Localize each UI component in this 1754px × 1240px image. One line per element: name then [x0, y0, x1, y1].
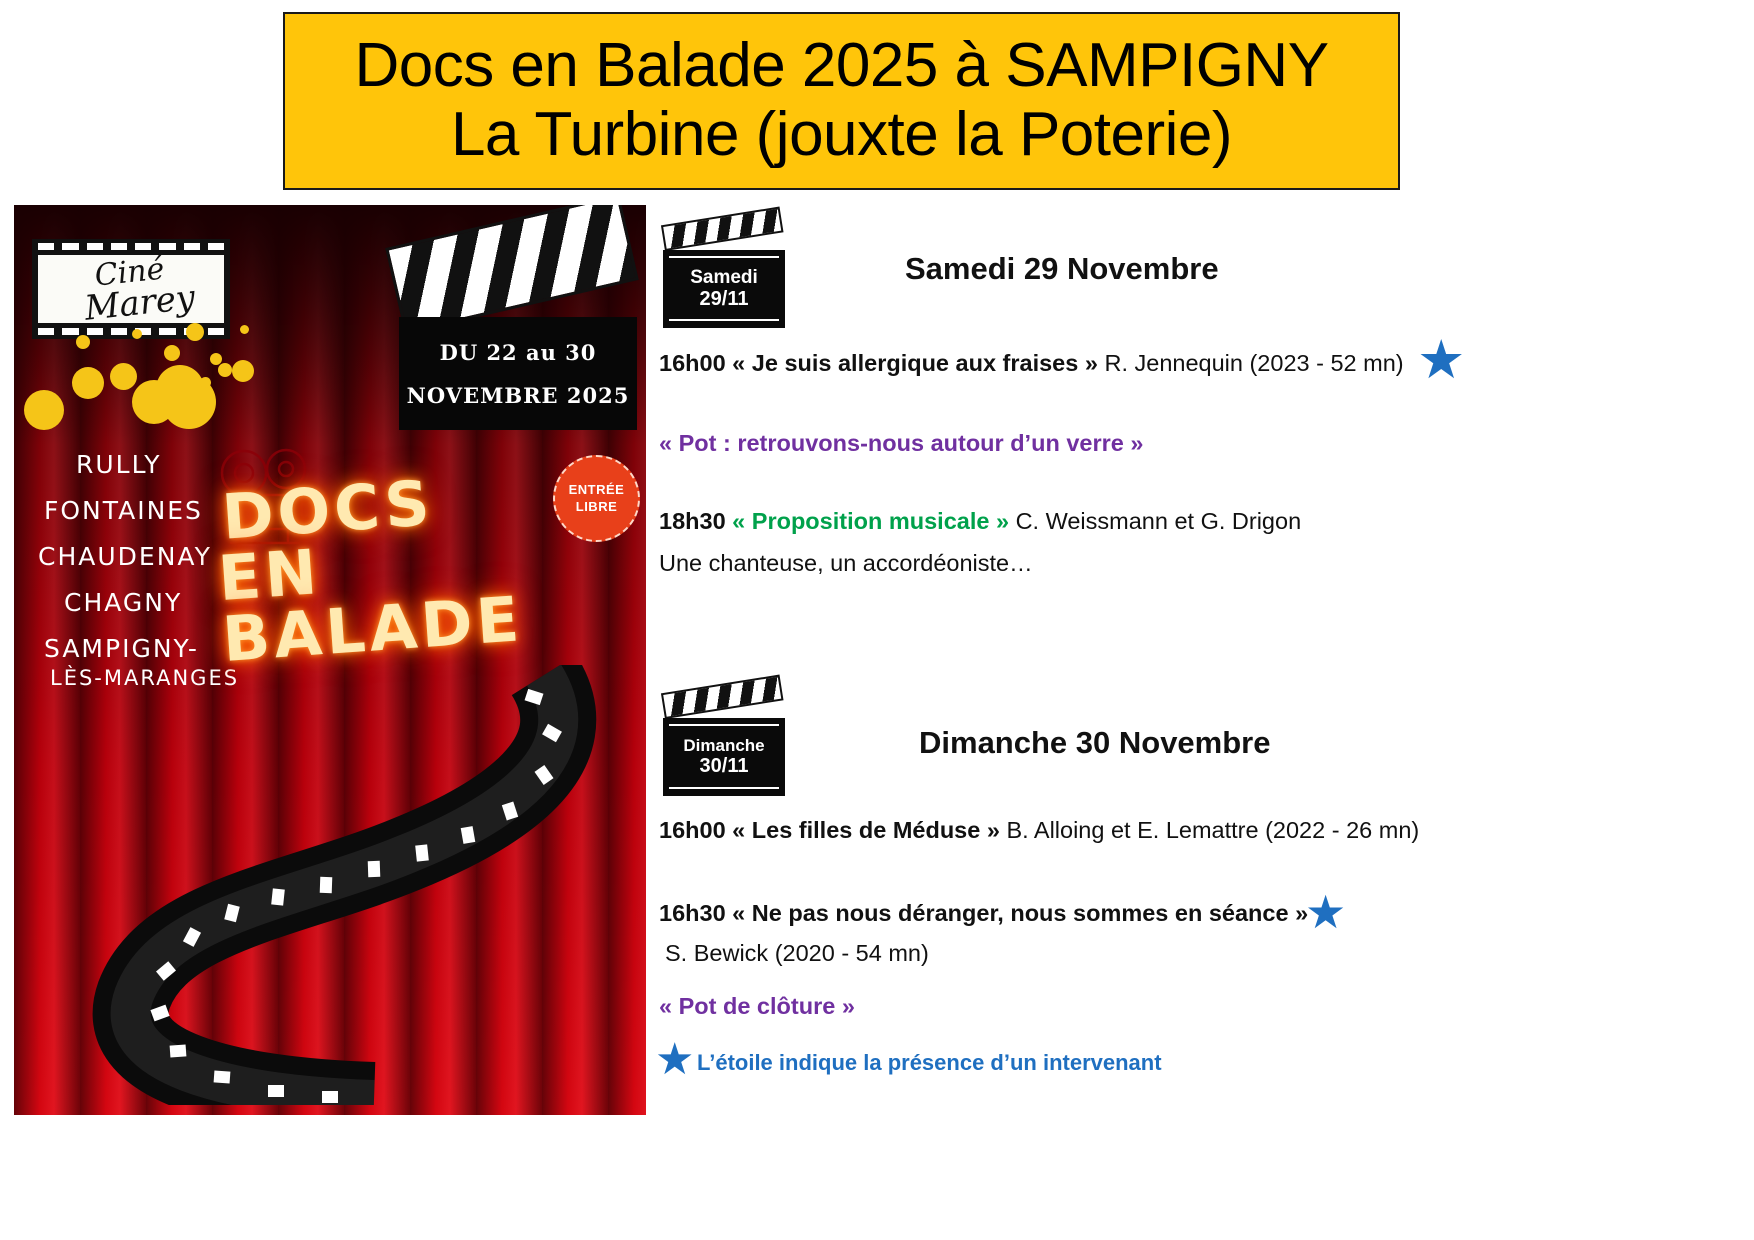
- event-title: « Ne pas nous déranger, nous sommes en s…: [732, 900, 1308, 926]
- poster-date-line-2: NOVEMBRE 2025: [407, 383, 630, 408]
- event-line-sun-2: 16h30 « Ne pas nous déranger, nous somme…: [659, 900, 1308, 927]
- festival-poster: Ciné Marey RULLY FONTAINES CHAUDENAY CHA…: [14, 205, 646, 1115]
- event-note-sat-3: Une chanteuse, un accordéoniste…: [659, 550, 1033, 577]
- poster-date-box: DU 22 au 30 NOVEMBRE 2025: [399, 317, 637, 430]
- bokeh-dot: [186, 323, 204, 341]
- page-title-line-2: La Turbine (jouxte la Poterie): [451, 102, 1232, 169]
- speaker-star-icon: ★: [1417, 333, 1465, 387]
- event-line-sat-1: 16h00 « Je suis allergique aux fraises »…: [659, 350, 1404, 377]
- bokeh-dot: [24, 390, 64, 430]
- town-item: SAMPIGNY-: [44, 634, 239, 663]
- bokeh-dot: [232, 360, 254, 382]
- event-time: 16h30: [659, 900, 726, 926]
- poster-neon-title: DOCS EN BALADE: [220, 459, 646, 670]
- bokeh-dot: [200, 377, 211, 388]
- clapper-date-label: 30/11: [700, 755, 749, 777]
- event-credit: B. Alloing et E. Lemattre (2022 - 26 mn): [1006, 817, 1419, 843]
- day-heading-saturday: Samedi 29 Novembre: [905, 251, 1219, 287]
- event-credit: C. Weissmann et G. Drigon: [1016, 508, 1302, 534]
- town-item: CHAUDENAY: [38, 542, 239, 571]
- clapper-date-label: 29/11: [700, 288, 749, 310]
- poster-date-line-1: DU 22 au 30: [440, 340, 597, 365]
- clapper-board: Samedi 29/11: [663, 250, 785, 328]
- event-time: 16h00: [659, 350, 726, 376]
- page-title-line-1: Docs en Balade 2025 à SAMPIGNY: [354, 33, 1328, 100]
- event-time: 16h00: [659, 817, 726, 843]
- event-time: 18h30: [659, 508, 726, 534]
- event-line-sun-3: « Pot de clôture »: [659, 993, 855, 1020]
- clapper-stick: [661, 207, 784, 251]
- event-title: « Proposition musicale »: [732, 508, 1009, 534]
- event-title: « Les filles de Méduse »: [732, 817, 1000, 843]
- clapper-board: Dimanche 30/11: [663, 718, 785, 796]
- logo-text-line-2: Marey: [83, 281, 196, 325]
- bokeh-dot: [132, 329, 142, 339]
- page-title-banner: Docs en Balade 2025 à SAMPIGNY La Turbin…: [283, 12, 1400, 190]
- legend-star-icon: ★: [655, 1038, 694, 1082]
- schedule-panel: Samedi 29/11 Samedi 29 Novembre 16h00 « …: [655, 205, 1745, 1235]
- film-perforations-top: [32, 239, 230, 254]
- day-heading-sunday: Dimanche 30 Novembre: [919, 725, 1270, 761]
- event-credit-sun-2: S. Bewick (2020 - 54 mn): [665, 940, 929, 967]
- speaker-star-icon: ★: [1305, 889, 1346, 935]
- bokeh-dot: [76, 335, 90, 349]
- bokeh-dot: [110, 363, 137, 390]
- star-legend-text: L’étoile indique la présence d’un interv…: [697, 1050, 1162, 1076]
- clapper-day-label: Dimanche: [683, 736, 764, 755]
- event-line-sat-2: « Pot : retrouvons-nous autour d’un verr…: [659, 430, 1143, 457]
- logo-screen: Ciné Marey: [38, 255, 224, 323]
- event-line-sat-3: 18h30 « Proposition musicale » C. Weissm…: [659, 508, 1301, 535]
- bokeh-dot: [72, 367, 104, 399]
- event-line-sun-1: 16h00 « Les filles de Méduse » B. Alloin…: [659, 817, 1419, 844]
- clapper-stick: [661, 675, 784, 719]
- clapper-day-label: Samedi: [690, 267, 758, 288]
- bokeh-dot: [164, 345, 180, 361]
- film-strip-swoosh: [74, 665, 646, 1105]
- bokeh-dot: [240, 325, 249, 334]
- clapperboard-saturday-icon: Samedi 29/11: [663, 225, 785, 328]
- clapperboard-sunday-icon: Dimanche 30/11: [663, 693, 785, 796]
- event-title: « Je suis allergique aux fraises »: [732, 350, 1098, 376]
- event-credit: R. Jennequin (2023 - 52 mn): [1104, 350, 1403, 376]
- bokeh-dot: [218, 363, 232, 377]
- town-item: CHAGNY: [64, 588, 239, 617]
